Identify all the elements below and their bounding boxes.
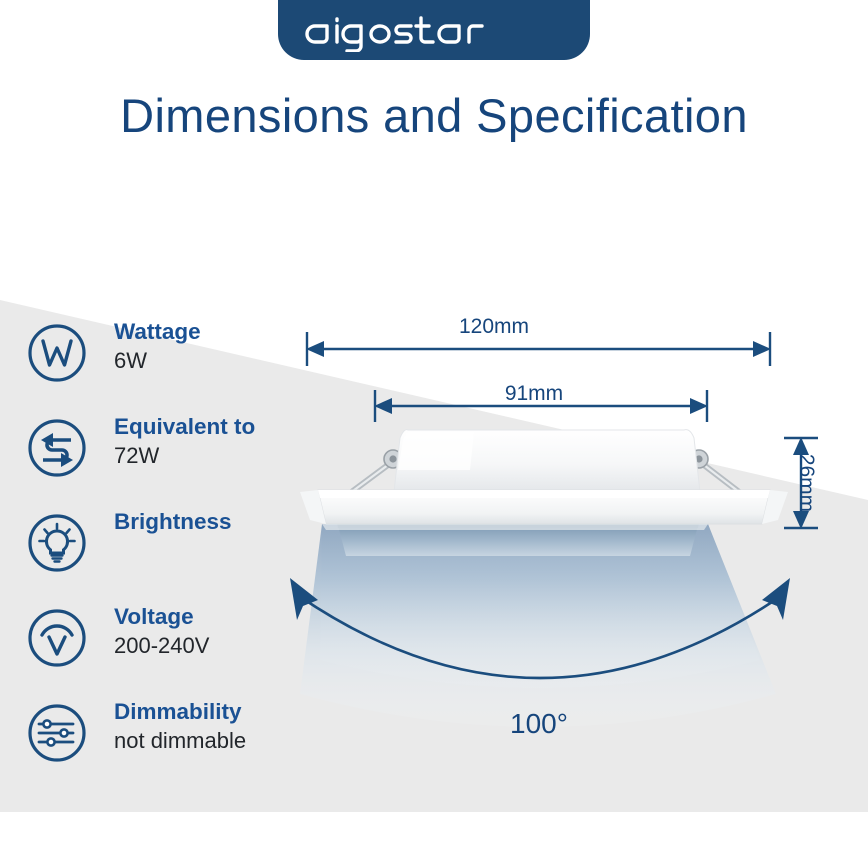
spec-label-brightness: Brightness	[114, 508, 329, 537]
voltage-circle-v-icon	[26, 607, 88, 669]
spec-label-equivalent: Equivalent to	[114, 413, 329, 442]
spec-text-voltage: Voltage 200-240V	[114, 603, 329, 660]
spec-text-brightness: Brightness	[114, 508, 329, 537]
dimmability-sliders-icon	[26, 702, 88, 764]
spec-row-equivalent: Equivalent to 72W	[26, 417, 326, 512]
spec-row-wattage: Wattage 6W	[26, 322, 326, 417]
spec-text-equivalent: Equivalent to 72W	[114, 413, 329, 470]
specification-list: Wattage 6W Equivalent to 72W	[26, 322, 326, 797]
square-flange	[300, 490, 788, 530]
spec-row-brightness: Brightness	[26, 512, 326, 607]
spec-value-wattage: 6W	[114, 347, 329, 376]
spec-row-dimmability: Dimmability not dimmable	[26, 702, 326, 797]
downlight-body	[394, 430, 700, 492]
spec-value-voltage: 200-240V	[114, 632, 329, 661]
spec-label-wattage: Wattage	[114, 318, 329, 347]
spec-row-voltage: Voltage 200-240V	[26, 607, 326, 702]
spec-text-dimmability: Dimmability not dimmable	[114, 698, 329, 755]
infographic-page: Dimensions and Specification	[0, 0, 868, 868]
spec-label-voltage: Voltage	[114, 603, 329, 632]
brightness-bulb-icon	[26, 512, 88, 574]
wattage-circle-w-icon	[26, 322, 88, 384]
spec-text-wattage: Wattage 6W	[114, 318, 329, 375]
spec-label-dimmability: Dimmability	[114, 698, 329, 727]
spec-value-equivalent: 72W	[114, 442, 329, 471]
spec-value-dimmability: not dimmable	[114, 727, 329, 756]
equivalent-arrows-icon	[26, 417, 88, 479]
